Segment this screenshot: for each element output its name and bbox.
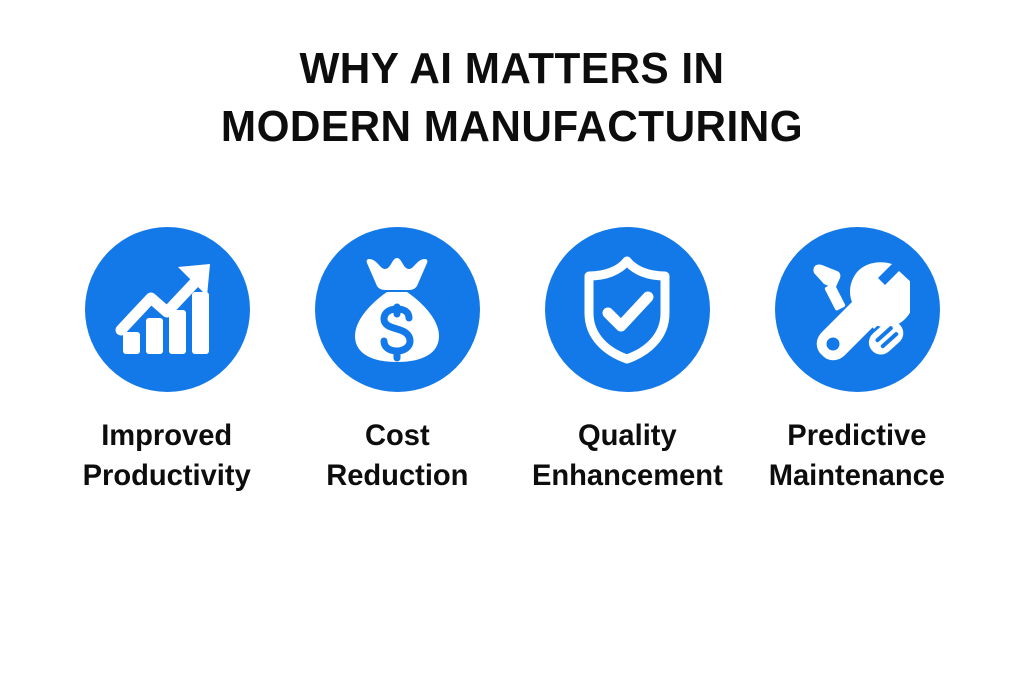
benefit-card-improved-productivity: Improved Productivity: [60, 227, 274, 496]
growth-chart-icon: [115, 258, 219, 362]
benefit-card-label: Quality Enhancement: [532, 416, 723, 496]
shield-check-icon: [575, 255, 679, 365]
benefit-card-label: Predictive Maintenance: [769, 416, 945, 496]
infographic-poster: WHY AI MATTERS IN MODERN MANUFACTURING: [0, 0, 1024, 683]
benefit-card-predictive-maintenance: Predictive Maintenance: [750, 227, 964, 496]
icon-circle-quality-enhancement: [545, 227, 710, 392]
page-title: WHY AI MATTERS IN MODERN MANUFACTURING: [0, 40, 1024, 156]
money-bag-icon: [347, 256, 447, 364]
benefit-card-label: Improved Productivity: [83, 416, 251, 496]
tools-icon: [804, 257, 910, 363]
benefit-cards-row: Improved Productivity: [60, 227, 964, 496]
page-title-line-2: MODERN MANUFACTURING: [20, 98, 1003, 156]
benefit-card-quality-enhancement: Quality Enhancement: [520, 227, 734, 496]
icon-circle-cost-reduction: [315, 227, 480, 392]
icon-circle-improved-productivity: [85, 227, 250, 392]
icon-circle-predictive-maintenance: [775, 227, 940, 392]
benefit-card-cost-reduction: Cost Reduction: [290, 227, 504, 496]
benefit-card-label: Cost Reduction: [326, 416, 468, 496]
page-title-line-1: WHY AI MATTERS IN: [20, 40, 1003, 98]
